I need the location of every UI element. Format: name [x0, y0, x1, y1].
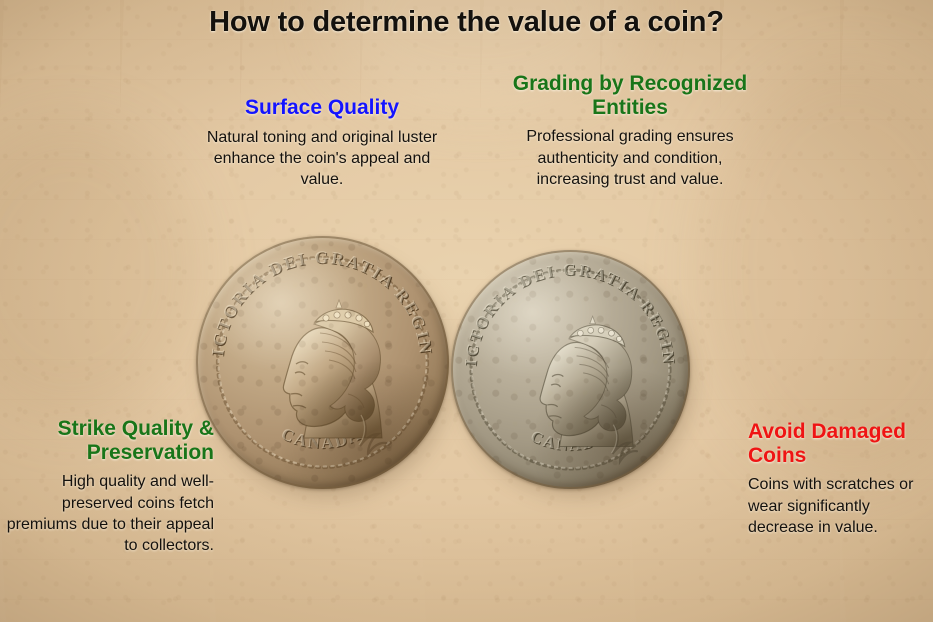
left-coin: VICTORIA DEI GRATIA REGINA VICTORIA DEI …	[196, 236, 449, 489]
block-surface-quality: Surface Quality Natural toning and origi…	[196, 96, 448, 191]
strike-quality-body: High quality and well-preserved coins fe…	[2, 471, 214, 556]
strike-quality-heading: Strike Quality & Preservation	[2, 417, 214, 464]
block-grading-by-recognized-entities: Grading by Recognized Entities Professio…	[504, 72, 756, 190]
avoid-damaged-body: Coins with scratches or wear significant…	[748, 474, 933, 538]
right-coin-rim	[451, 250, 690, 489]
block-strike-quality-preservation: Strike Quality & Preservation High quali…	[2, 417, 214, 557]
surface-quality-heading: Surface Quality	[196, 96, 448, 120]
grading-heading: Grading by Recognized Entities	[504, 72, 756, 119]
left-coin-rim	[196, 236, 449, 489]
grading-body: Professional grading ensures authenticit…	[504, 126, 756, 190]
coin-value-infographic: How to determine the value of a coin?	[0, 0, 933, 622]
page-title: How to determine the value of a coin?	[0, 6, 933, 39]
avoid-damaged-heading: Avoid Damaged Coins	[748, 420, 933, 467]
surface-quality-body: Natural toning and original luster enhan…	[196, 127, 448, 191]
block-avoid-damaged-coins: Avoid Damaged Coins Coins with scratches…	[748, 420, 933, 538]
right-coin: VICTORIA DEI GRATIA REGINA VICTORIA DEI …	[451, 250, 690, 489]
